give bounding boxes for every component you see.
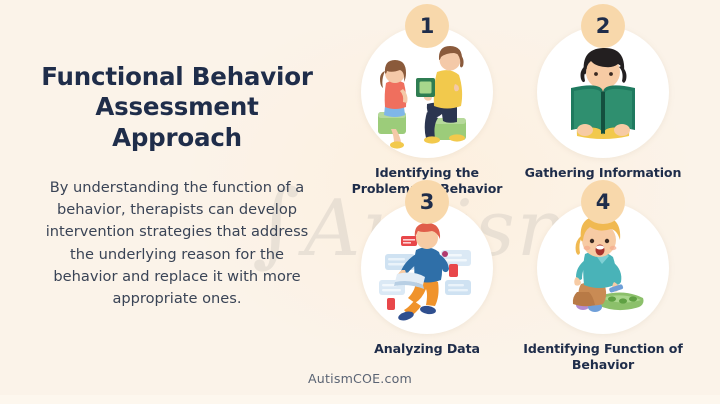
step-4-disc-wrap: 4: [537, 202, 669, 334]
step-card-3[interactable]: 3 Analyzing Data: [332, 190, 522, 357]
steps-grid: 1 Identifying the Problematic Behavior: [332, 14, 712, 366]
step-2-badge: 2: [581, 4, 625, 48]
page-title: Functional Behavior Assessment Approach: [22, 62, 332, 153]
step-3-badge: 3: [405, 180, 449, 224]
step-card-4[interactable]: 4 Identifying Function of Behavior: [508, 190, 698, 373]
step-1-badge: 1: [405, 4, 449, 48]
step-2-label: Gathering Information: [508, 165, 698, 181]
intro-paragraph: By understanding the function of a behav…: [22, 177, 332, 310]
infographic-poster: ∫Autism Functional Behavior Assessment A…: [0, 0, 720, 404]
step-2-disc-wrap: 2: [537, 26, 669, 158]
step-4-badge: 4: [581, 180, 625, 224]
step-3-label: Analyzing Data: [332, 341, 522, 357]
bottom-band: [0, 395, 720, 404]
step-card-2[interactable]: 2 Gathering Information: [508, 14, 698, 181]
footer-site-label[interactable]: AutismCOE.com: [0, 371, 720, 386]
step-4-label: Identifying Function of Behavior: [508, 341, 698, 373]
step-1-disc-wrap: 1: [361, 26, 493, 158]
intro-column: Functional Behavior Assessment Approach …: [22, 62, 332, 310]
step-3-disc-wrap: 3: [361, 202, 493, 334]
step-card-1[interactable]: 1 Identifying the Problematic Behavior: [332, 14, 522, 197]
